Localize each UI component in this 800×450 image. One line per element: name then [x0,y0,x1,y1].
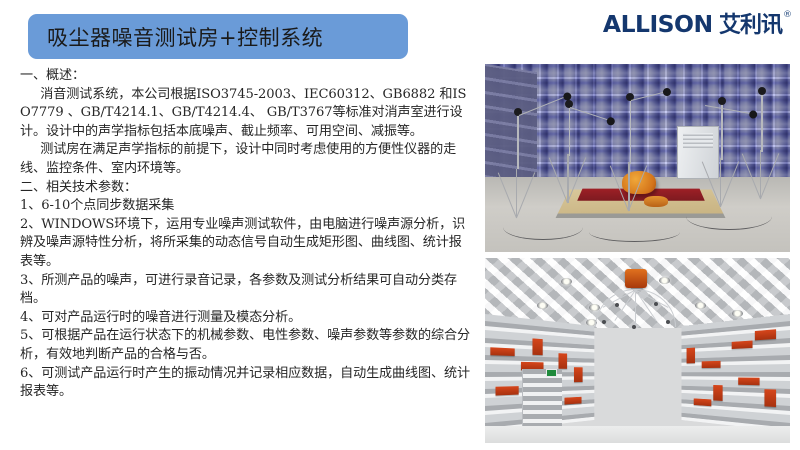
microphone-tripod [720,158,721,207]
section-2-heading: 二、相关技术参数： [20,179,472,198]
orange-acoustic-wedge [686,347,694,363]
semi-anechoic-chamber-interior-photo [485,258,790,443]
array-microphone [666,320,670,324]
orange-acoustic-wedge [574,367,582,382]
body-content: 一、概述： 消音测试系统，本公司根据ISO3745-2003、IEC60312、… [20,67,472,402]
spec-item: 2、WINDOWS环境下，运用专业噪声测试软件，由电脑进行噪声源分析，识辨及噪声… [20,216,472,272]
spec-item: 4、可对产品运行时的噪音进行测量及模态分析。 [20,309,472,328]
signal-cable [589,222,681,242]
chamber-door [522,369,563,432]
microphone [761,92,763,152]
photo-scene-semi-anechoic [485,258,790,443]
ceiling-spotlight [659,277,670,284]
orange-acoustic-wedge [701,360,720,367]
orange-acoustic-wedge [754,329,775,340]
microphone [517,113,519,169]
orange-acoustic-wedge [693,398,710,406]
page-title: 吸尘器噪音测试房+控制系统 [28,22,323,52]
array-microphone [654,302,658,306]
registered-trademark-icon: ® [783,10,792,20]
dome-rib [635,290,636,327]
overhead-sensor-hub [625,269,646,288]
microphone-tripod [516,169,517,218]
anechoic-chamber-vacuum-test-photo [485,64,790,252]
vacuum-cleaner-nozzle [644,196,668,207]
orange-acoustic-wedge [496,386,519,395]
section-1-paragraph-2: 测试房在满足声学指标的前提下，设计中同时考虑使用的方便性仪器的走线、监控条件、室… [20,141,472,178]
array-microphone [632,325,636,329]
array-microphone [602,320,606,324]
slide-title-box: 吸尘器噪音测试房+控制系统 [28,14,408,59]
microphone [569,105,571,156]
array-microphone [615,303,619,307]
spec-item: 5、可根据产品在运行状态下的机械参数、电性参数、噪声参数等参数的综合分析，有效地… [20,327,472,364]
spec-item: 3、所测产品的噪声，可进行录音记录，各参数及测试分析结果可自动分类存档。 [20,272,472,309]
microphone-tripod [567,154,568,203]
spec-item: 1、6-10个点同步数据采集 [20,197,472,216]
microphone-tripod [760,150,761,199]
orange-acoustic-wedge [558,352,567,368]
chamber-floor [485,426,790,443]
ceiling-spotlight [732,310,743,317]
equipment-cabinet [677,126,719,179]
microphone [721,102,723,160]
orange-acoustic-wedge [764,388,775,406]
section-1-heading: 一、概述： [20,67,472,86]
orange-acoustic-wedge [490,347,514,356]
photo-scene-anechoic [485,64,790,252]
orange-acoustic-wedge [564,396,581,404]
orange-acoustic-wedge [532,338,542,355]
orange-acoustic-wedge [713,385,722,401]
logo-latin-text: ALLISON [603,14,713,37]
section-1-paragraph-1: 消音测试系统，本公司根据ISO3745-2003、IEC60312、GB6882… [20,86,472,142]
orange-acoustic-wedge [731,340,751,349]
signal-cable [503,214,582,239]
microphone-tripod [628,162,629,211]
spec-item: 6、可测试产品运行时产生的振动情况并记录相应数据，自动生成曲线图、统计报表等。 [20,365,472,402]
slide-canvas: 吸尘器噪音测试房+控制系统 ALLISON 艾利讯 ® 一、概述： 消音测试系统… [0,0,800,450]
exit-sign-icon [546,369,557,377]
brand-logo: ALLISON 艾利讯 ® [604,14,792,37]
acoustic-wedge-wall-right [681,314,790,432]
logo-chinese-text: 艾利讯 [719,14,782,36]
microphone [630,98,632,164]
orange-acoustic-wedge [738,377,759,385]
